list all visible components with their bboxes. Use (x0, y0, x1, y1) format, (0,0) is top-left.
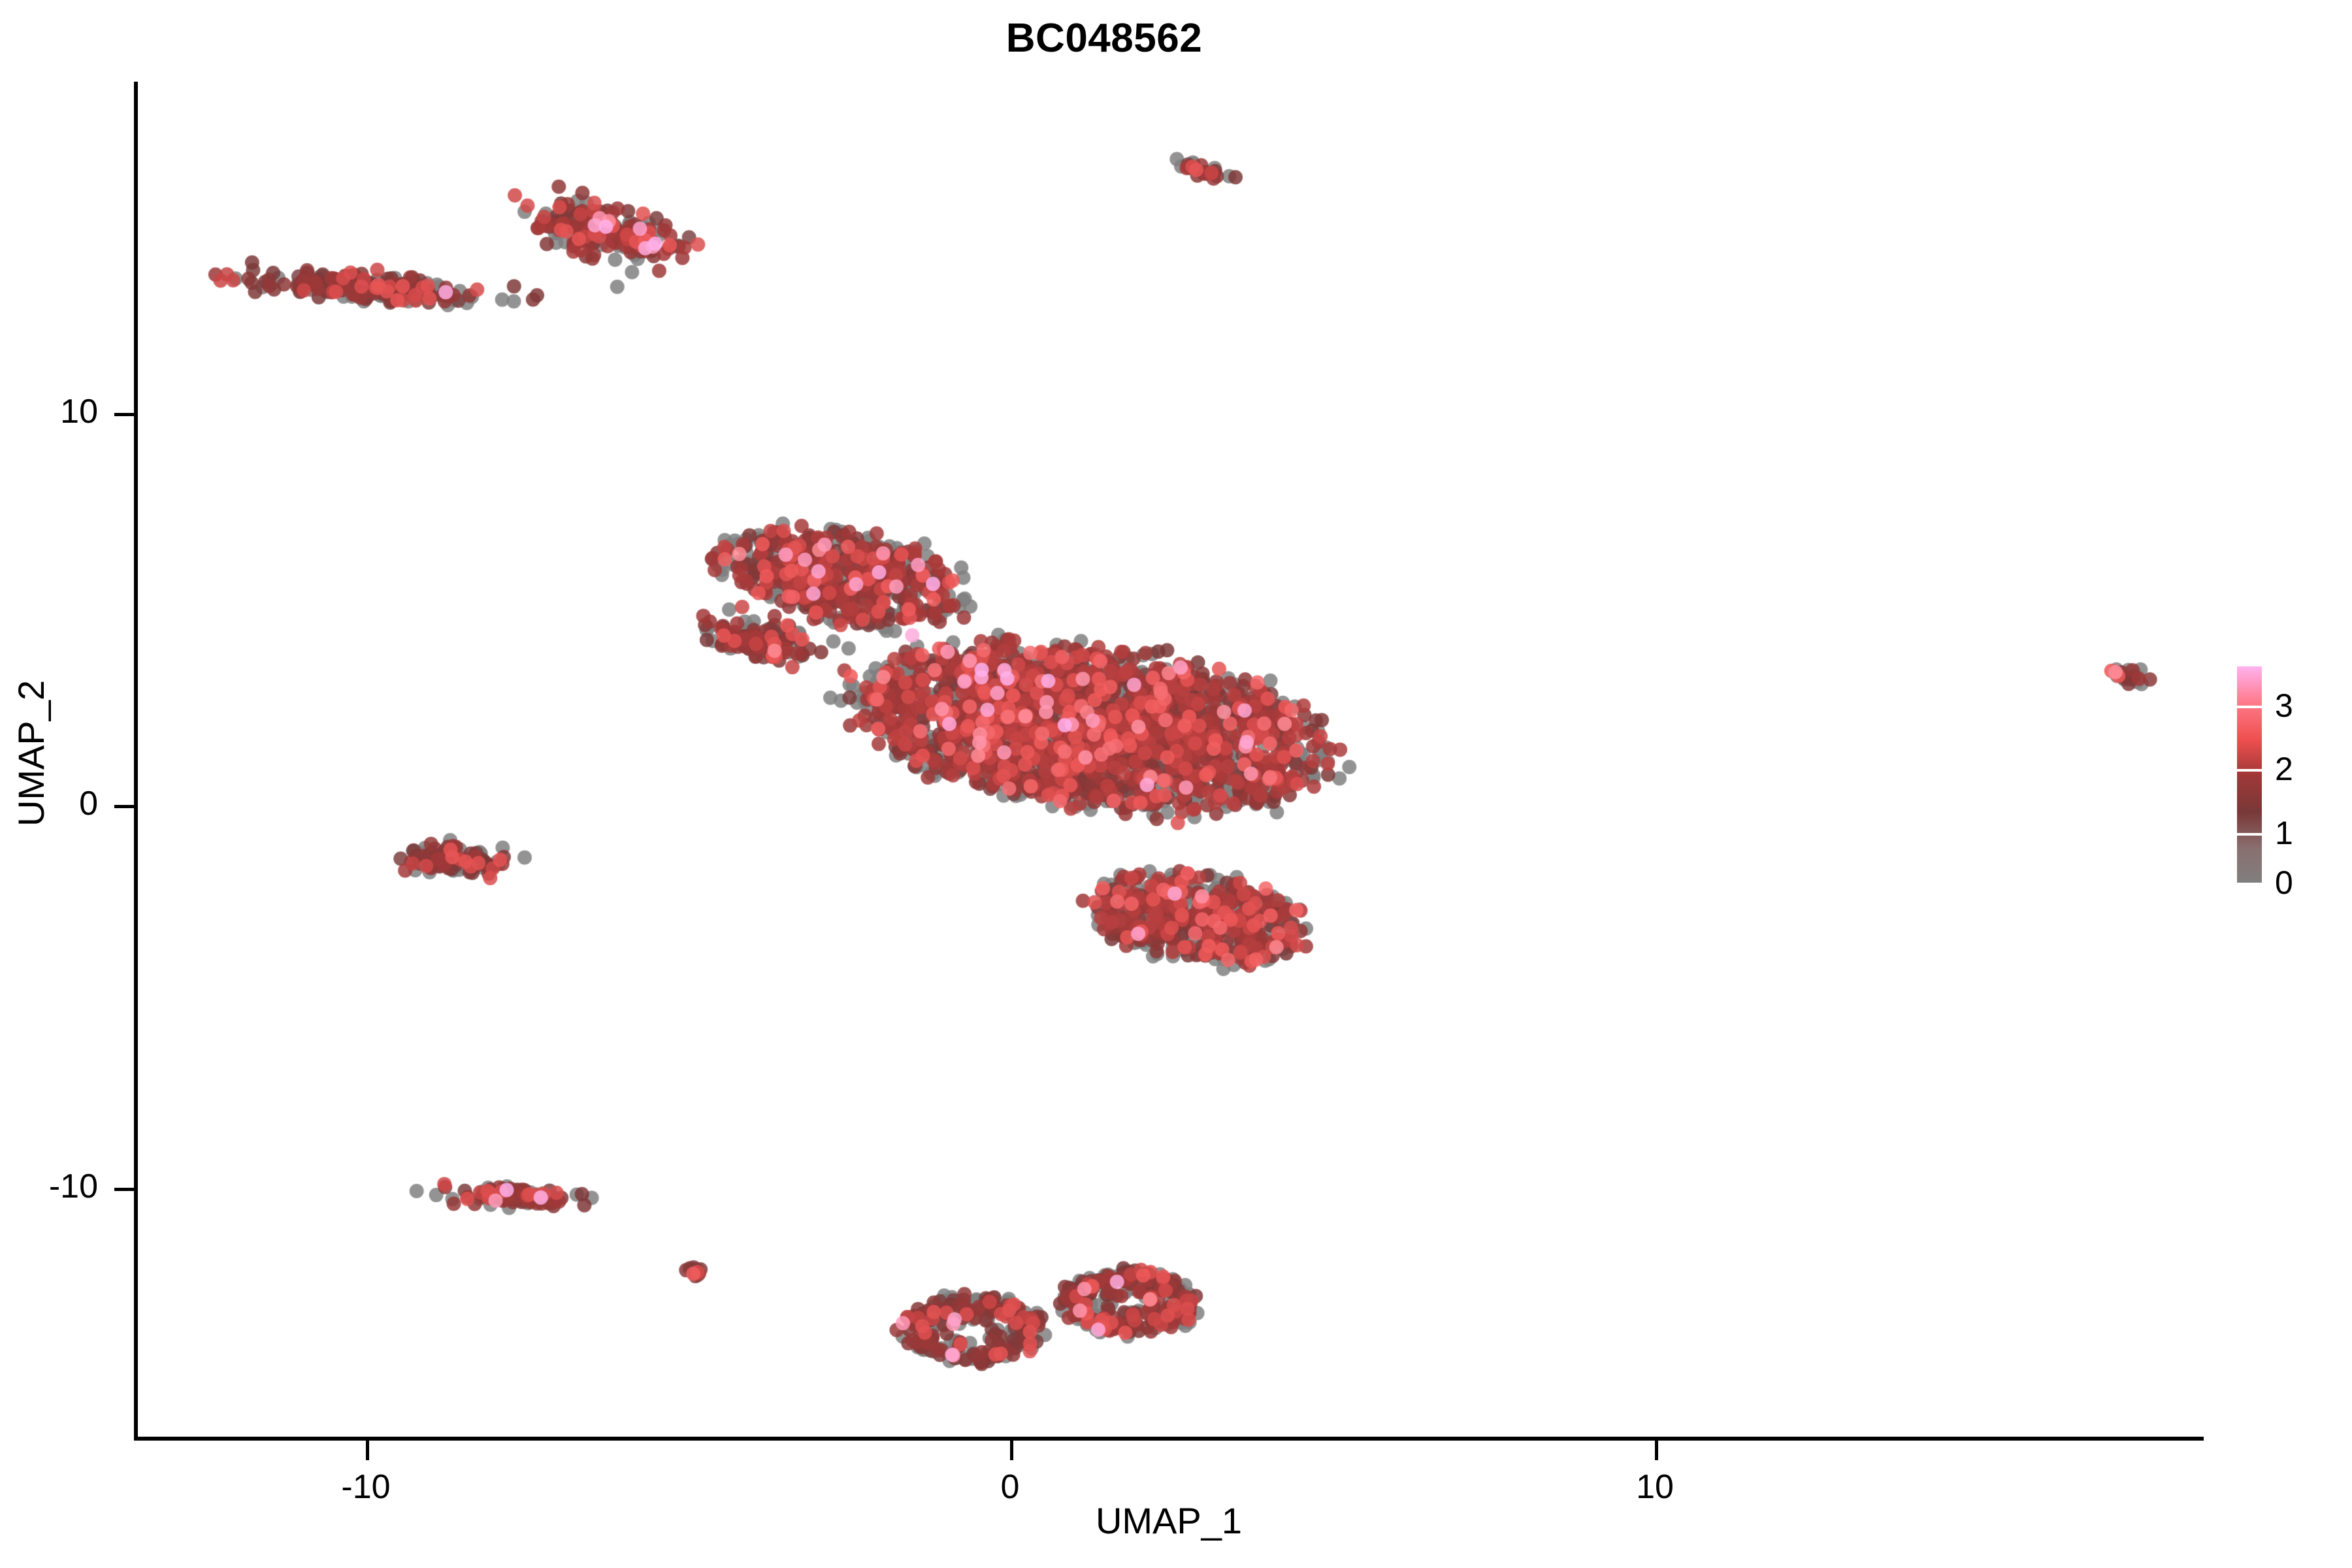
y-tick-0 (114, 805, 134, 808)
colorbar-tick-1 (2237, 833, 2262, 836)
x-tick-10 (1655, 1441, 1658, 1460)
x-ticklabel-neg10: -10 (268, 1470, 464, 1504)
colorbar-label-1: 1 (2275, 817, 2293, 849)
y-ticklabel-neg10: -10 (0, 1169, 98, 1203)
x-ticklabel-0: 0 (912, 1470, 1108, 1504)
y-axis-line (134, 82, 138, 1441)
x-axis-title: UMAP_1 (134, 1503, 2204, 1539)
colorbar-tick-3 (2237, 706, 2262, 708)
y-tick-neg10 (114, 1188, 134, 1191)
colorbar-label-3: 3 (2275, 689, 2293, 722)
x-tick-0 (1010, 1441, 1013, 1460)
colorbar-gradient (2237, 666, 2262, 885)
umap-feature-plot: BC048562 10 0 -10 -10 0 10 UMAP_1 UMAP_2… (0, 0, 2352, 1568)
y-tick-10 (114, 413, 134, 416)
page-title: BC048562 (0, 18, 2208, 59)
scatter-points-canvas (0, 0, 2352, 1568)
colorbar-label-0: 0 (2275, 866, 2293, 899)
x-tick-neg10 (366, 1441, 369, 1460)
y-ticklabel-10: 10 (0, 395, 98, 429)
colorbar-tick-2 (2237, 769, 2262, 772)
colorbar-tick-0 (2237, 883, 2262, 885)
x-axis-line (134, 1437, 2204, 1441)
colorbar-label-2: 2 (2275, 753, 2293, 785)
y-axis-title: UMAP_2 (13, 623, 50, 884)
x-ticklabel-10: 10 (1557, 1470, 1753, 1504)
legend-colorbar[interactable]: 3 2 1 0 (2237, 666, 2342, 895)
